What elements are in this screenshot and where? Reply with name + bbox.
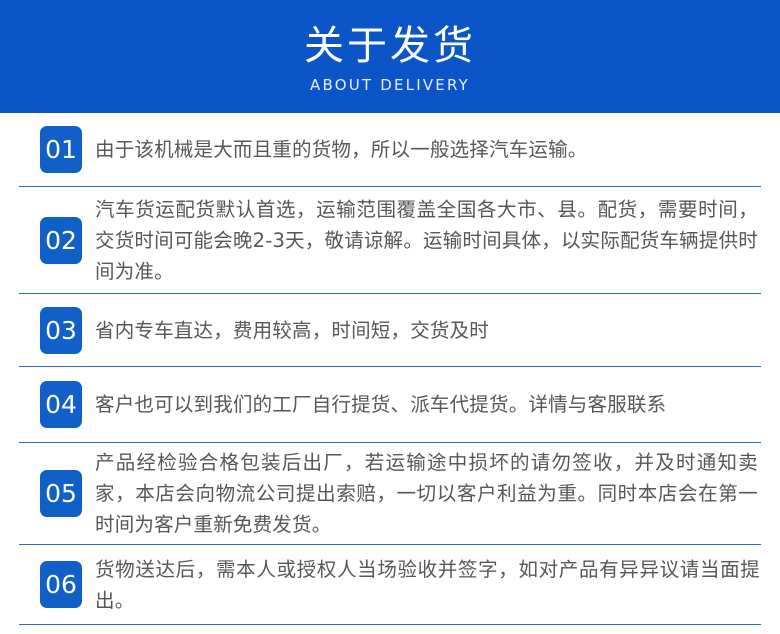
item-number-badge: 06 xyxy=(40,561,82,608)
item-number-badge: 05 xyxy=(40,470,82,517)
list-item: 01 由于该机械是大而且重的货物，所以一般选择汽车运输。 xyxy=(0,113,780,186)
page-title: 关于发货 xyxy=(304,22,476,70)
item-number-badge: 04 xyxy=(40,381,82,428)
list-item: 02 汽车货运配货默认首选，运输范围覆盖全国各大市、县。配货，需要时间，交货时间… xyxy=(0,187,780,293)
list-item: 03 省内专车直达，费用较高，时间短，交货及时 xyxy=(0,294,780,366)
delivery-terms-list: 01 由于该机械是大而且重的货物，所以一般选择汽车运输。 02 汽车货运配货默认… xyxy=(0,113,780,625)
item-number-badge: 01 xyxy=(40,126,82,173)
item-text: 汽车货运配货默认首选，运输范围覆盖全国各大市、县。配货，需要时间，交货时间可能会… xyxy=(95,194,762,287)
item-number-badge: 02 xyxy=(40,217,82,264)
list-item: 06 货物送达后，需本人或授权人当场验收并签字，如对产品有异异议请当面提出。 xyxy=(0,545,780,624)
row-divider xyxy=(19,624,761,625)
item-text: 省内专车直达，费用较高，时间短，交货及时 xyxy=(95,315,762,346)
delivery-info-page: 关于发货 ABOUT DELIVERY 01 由于该机械是大而且重的货物，所以一… xyxy=(0,0,780,634)
item-text: 客户也可以到我们的工厂自行提货、派车代提货。详情与客服联系 xyxy=(95,389,762,420)
page-subtitle: ABOUT DELIVERY xyxy=(310,75,470,95)
list-item: 05 产品经检验合格包装后出厂，若运输途中损坏的请勿签收，并及时通知卖家，本店会… xyxy=(0,443,780,544)
list-item: 04 客户也可以到我们的工厂自行提货、派车代提货。详情与客服联系 xyxy=(0,367,780,442)
item-number-badge: 03 xyxy=(40,307,82,354)
item-text: 由于该机械是大而且重的货物，所以一般选择汽车运输。 xyxy=(95,134,762,165)
page-banner: 关于发货 ABOUT DELIVERY xyxy=(0,0,780,113)
item-text: 产品经检验合格包装后出厂，若运输途中损坏的请勿签收，并及时通知卖家，本店会向物流… xyxy=(95,447,762,540)
item-text: 货物送达后，需本人或授权人当场验收并签字，如对产品有异异议请当面提出。 xyxy=(95,554,762,616)
